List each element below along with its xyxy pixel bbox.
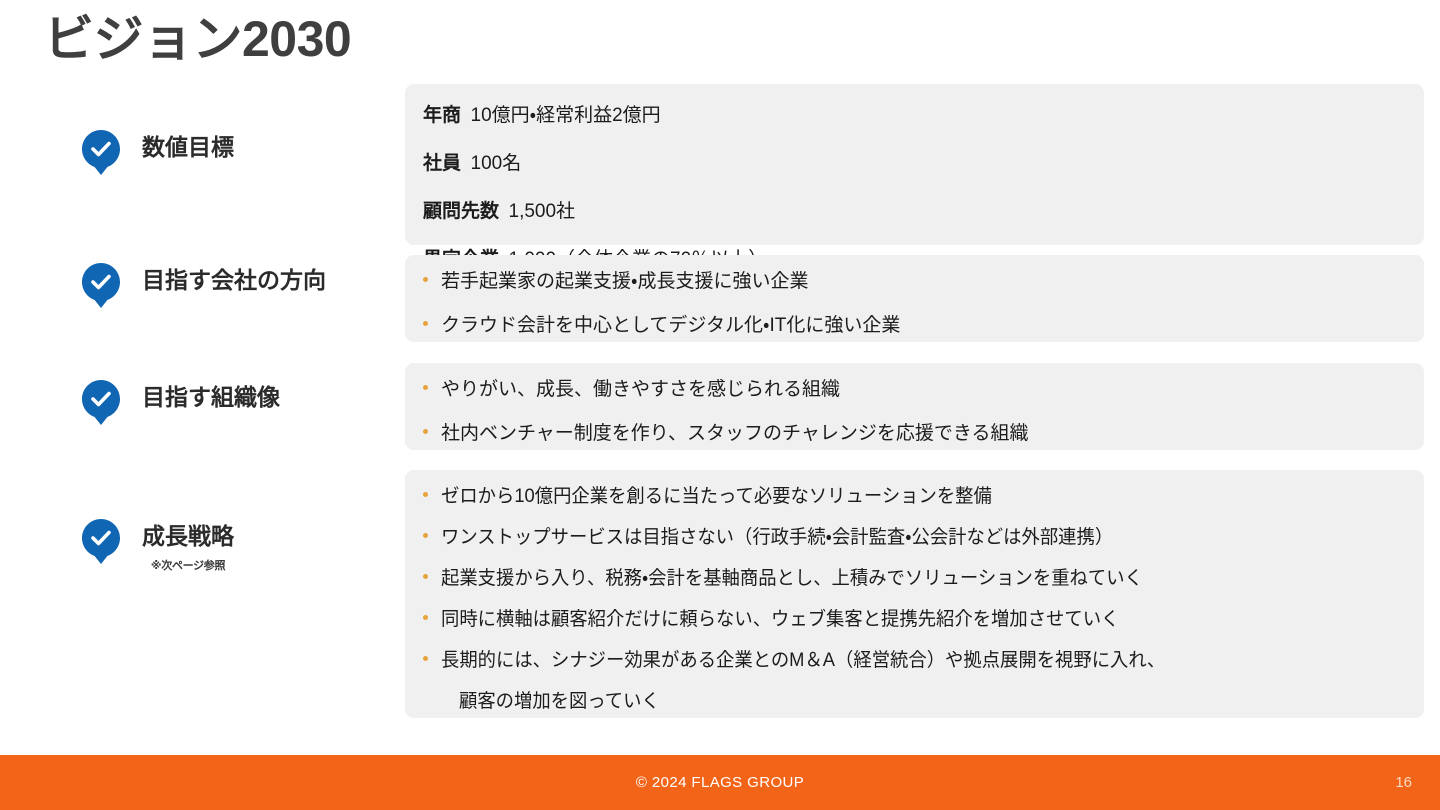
list-item: ワンストップサービスは目指さない（行政手続・会計監査・公会計などは外部連携） <box>423 528 1424 547</box>
kv-line: 顧問先数 1,500社 <box>423 202 1424 221</box>
list-item-continuation: 顧客の増加を図っていく <box>423 692 1424 711</box>
list-item: クラウド会計を中心としてデジタル化・IT化に強い企業 <box>423 316 1424 335</box>
rail-text-group: 成長戦略 ※次ページ参照 <box>142 520 234 573</box>
list-item: 社内ベンチャー制度を作り、スタッフのチャレンジを応援できる組織 <box>423 424 1424 443</box>
section-label: 目指す会社の方向 <box>142 267 326 293</box>
kv-line: 年商 10億円・経常利益2億円 <box>423 106 1424 125</box>
list-item-text: 同時に横軸は顧客紹介だけに頼らない、ウェブ集客と提携先紹介を増加させていく <box>441 610 1119 629</box>
bullet-dot-icon <box>423 385 428 390</box>
section-note: ※次ページ参照 <box>142 557 234 573</box>
list-item: 同時に横軸は顧客紹介だけに頼らない、ウェブ集客と提携先紹介を増加させていく <box>423 610 1424 629</box>
kv-key: 年商 <box>423 105 471 126</box>
list-item: 起業支援から入り、税務・会計を基軸商品とし、上積みでソリューションを重ねていく <box>423 569 1424 588</box>
rail-text-group: 数値目標 <box>142 131 234 162</box>
check-pin-icon <box>82 381 120 419</box>
panel-organization-vision: やりがい、成長、働きやすさを感じられる組織 社内ベンチャー制度を作り、スタッフの… <box>405 363 1424 450</box>
list-item-text: 社内ベンチャー制度を作り、スタッフのチャレンジを応援できる組織 <box>441 424 1028 443</box>
panel-numeric-goals: 年商 10億円・経常利益2億円 社員 100名 顧問先数 1,500社 黒字企業… <box>405 84 1424 245</box>
rail-text-group: 目指す会社の方向 <box>142 264 326 295</box>
list-item-text: クラウド会計を中心としてデジタル化・IT化に強い企業 <box>441 316 900 335</box>
list-item-text: ワンストップサービスは目指さない（行政手続・会計監査・公会計などは外部連携） <box>441 528 1113 547</box>
bullet-dot-icon <box>423 492 428 497</box>
footer-bar: © 2024 FLAGS GROUP 16 <box>0 755 1440 810</box>
list-item-text: 起業支援から入り、税務・会計を基軸商品とし、上積みでソリューションを重ねていく <box>441 569 1143 588</box>
panel-company-direction: 若手起業家の起業支援・成長支援に強い企業 クラウド会計を中心としてデジタル化・I… <box>405 255 1424 342</box>
bullet-dot-icon <box>423 615 428 620</box>
list-item: やりがい、成長、働きやすさを感じられる組織 <box>423 380 1424 399</box>
page-title: ビジョン2030 <box>44 8 351 71</box>
list-item-text: ゼロから10億円企業を創るに当たって必要なソリューションを整備 <box>441 487 992 506</box>
kv-value: 100名 <box>471 153 522 174</box>
section-label: 成長戦略 <box>142 523 234 549</box>
bullet-dot-icon <box>423 574 428 579</box>
check-pin-icon <box>82 131 120 169</box>
bullet-dot-icon <box>423 277 428 282</box>
bullet-dot-icon <box>423 533 428 538</box>
check-pin-icon <box>82 520 120 558</box>
kv-value: 1,500社 <box>509 201 576 222</box>
rail-text-group: 目指す組織像 <box>142 381 280 412</box>
bullet-dot-icon <box>423 321 428 326</box>
list-item: ゼロから10億円企業を創るに当たって必要なソリューションを整備 <box>423 487 1424 506</box>
check-pin-icon <box>82 264 120 302</box>
list-item-continuation-text: 顧客の増加を図っていく <box>459 692 660 711</box>
list-item: 長期的には、シナジー効果がある企業とのM＆A（経営統合）や拠点展開を視野に入れ、 <box>423 651 1424 670</box>
kv-key: 顧問先数 <box>423 201 509 222</box>
list-item-text: 若手起業家の起業支援・成長支援に強い企業 <box>441 272 808 291</box>
rail-item-company-direction: 目指す会社の方向 <box>82 264 326 302</box>
bullet-spacer <box>441 692 446 711</box>
list-item-text: やりがい、成長、働きやすさを感じられる組織 <box>441 380 840 399</box>
bullet-dot-icon <box>423 429 428 434</box>
kv-value: 10億円・経常利益2億円 <box>471 105 661 126</box>
rail-item-growth-strategy: 成長戦略 ※次ページ参照 <box>82 520 234 573</box>
rail-item-numeric-goals: 数値目標 <box>82 131 234 169</box>
slide-canvas: ビジョン2030 数値目標 年商 10億円・経常利益2億円 社員 100名 顧問… <box>0 0 1440 810</box>
page-number: 16 <box>1395 755 1412 810</box>
panel-growth-strategy: ゼロから10億円企業を創るに当たって必要なソリューションを整備 ワンストップサー… <box>405 470 1424 718</box>
list-item-text: 長期的には、シナジー効果がある企業とのM＆A（経営統合）や拠点展開を視野に入れ、 <box>441 651 1165 670</box>
kv-line: 社員 100名 <box>423 154 1424 173</box>
section-label: 数値目標 <box>142 134 234 160</box>
footer-copyright: © 2024 FLAGS GROUP <box>0 755 1440 810</box>
rail-item-organization-vision: 目指す組織像 <box>82 381 280 419</box>
list-item: 若手起業家の起業支援・成長支援に強い企業 <box>423 272 1424 291</box>
kv-key: 社員 <box>423 153 471 174</box>
section-label: 目指す組織像 <box>142 384 280 410</box>
bullet-dot-icon <box>423 656 428 661</box>
